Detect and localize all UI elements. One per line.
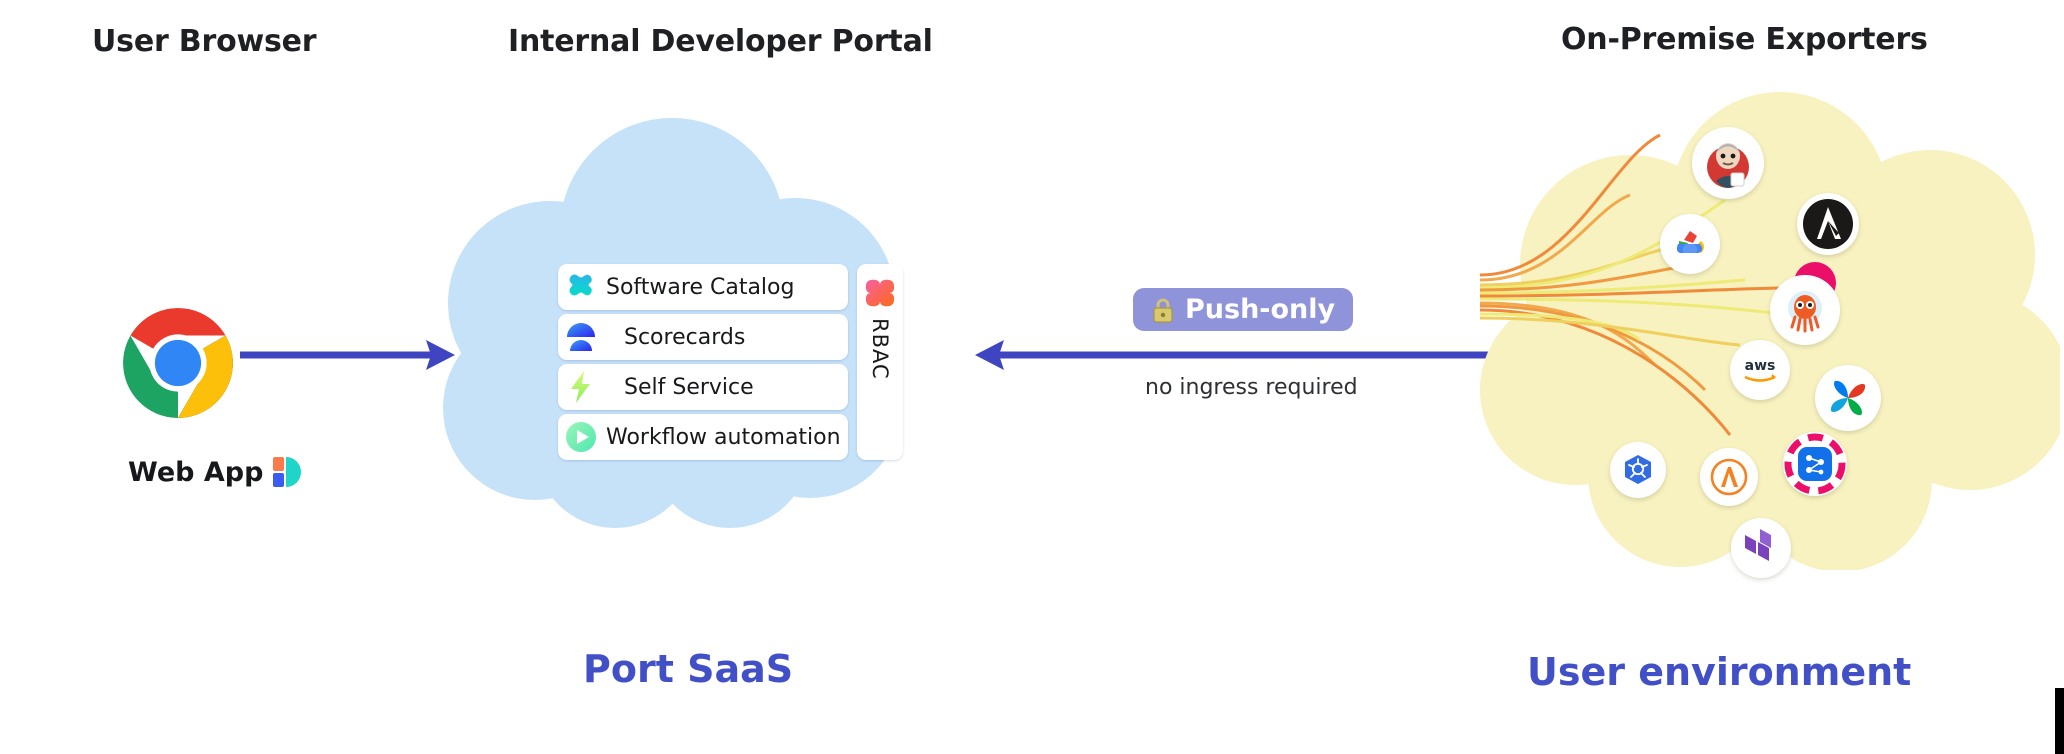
chrome-icon xyxy=(123,308,233,418)
port-logo-icon xyxy=(273,455,301,489)
software-catalog-icon xyxy=(564,270,598,304)
lock-icon xyxy=(1151,297,1175,323)
exporter-node-ansible[interactable] xyxy=(1797,193,1859,255)
exporter-node-jenkins[interactable] xyxy=(1692,127,1764,199)
terraform-icon xyxy=(1743,529,1779,567)
svg-text:aws: aws xyxy=(1745,358,1776,374)
exporter-node-argo-workflows[interactable] xyxy=(1783,432,1847,496)
web-app-label: Web App xyxy=(128,457,263,488)
workflow-automation-play-icon xyxy=(564,420,598,454)
exporter-node-kubernetes[interactable] xyxy=(1610,442,1666,498)
no-ingress-caption: no ingress required xyxy=(1145,375,1358,400)
jenkins-icon xyxy=(1702,137,1754,189)
push-only-badge: Push-only xyxy=(1133,288,1353,331)
rbac-clover-icon xyxy=(865,278,895,308)
exporter-node-lambda[interactable] xyxy=(1700,448,1758,506)
heading-internal-developer-portal: Internal Developer Portal xyxy=(508,24,933,59)
feature-item-workflow-automation[interactable]: Workflow automation xyxy=(558,414,848,460)
feature-label: Workflow automation xyxy=(606,425,841,450)
airflow-icon xyxy=(1826,376,1870,420)
diagram-canvas: User Browser Internal Developer Portal O… xyxy=(0,0,2064,754)
aws-icon: aws xyxy=(1738,355,1782,385)
heading-user-browser: User Browser xyxy=(92,24,316,59)
port-feature-list: Software Catalog Scorecards xyxy=(558,264,848,460)
exporter-node-aws[interactable]: aws xyxy=(1730,340,1790,400)
feature-label: Self Service xyxy=(624,375,754,400)
feature-label: Scorecards xyxy=(624,325,745,350)
exporter-node-argo[interactable] xyxy=(1770,275,1840,345)
google-cloud-icon xyxy=(1671,225,1709,263)
label-port-saas: Port SaaS xyxy=(583,647,793,691)
argo-workflows-icon xyxy=(1783,432,1847,496)
exporter-node-google-cloud[interactable] xyxy=(1660,214,1720,274)
arrow-browser-to-port xyxy=(240,330,455,380)
feature-item-self-service[interactable]: Self Service xyxy=(558,364,848,410)
web-app-label-row: Web App xyxy=(128,455,301,489)
ansible-icon xyxy=(1797,193,1859,255)
rbac-panel[interactable]: RBAC xyxy=(857,264,903,460)
port-feature-card: Software Catalog Scorecards xyxy=(558,264,903,460)
label-user-environment: User environment xyxy=(1527,650,1911,694)
rbac-label: RBAC xyxy=(868,318,892,380)
scorecards-icon xyxy=(564,320,598,354)
exporter-node-airflow[interactable] xyxy=(1815,365,1881,431)
push-only-label: Push-only xyxy=(1185,294,1335,325)
exporter-connector-lines xyxy=(1480,90,2060,570)
heading-on-premise-exporters: On-Premise Exporters xyxy=(1561,22,1928,57)
feature-label: Software Catalog xyxy=(606,275,794,300)
kubernetes-icon xyxy=(1621,453,1655,487)
self-service-lightning-icon xyxy=(564,370,598,404)
lambda-icon xyxy=(1709,457,1749,497)
feature-item-software-catalog[interactable]: Software Catalog xyxy=(558,264,848,310)
exporter-node-terraform[interactable] xyxy=(1731,518,1791,578)
feature-item-scorecards[interactable]: Scorecards xyxy=(558,314,848,360)
argo-icon xyxy=(1781,286,1829,334)
right-edge-strip xyxy=(2055,688,2064,754)
